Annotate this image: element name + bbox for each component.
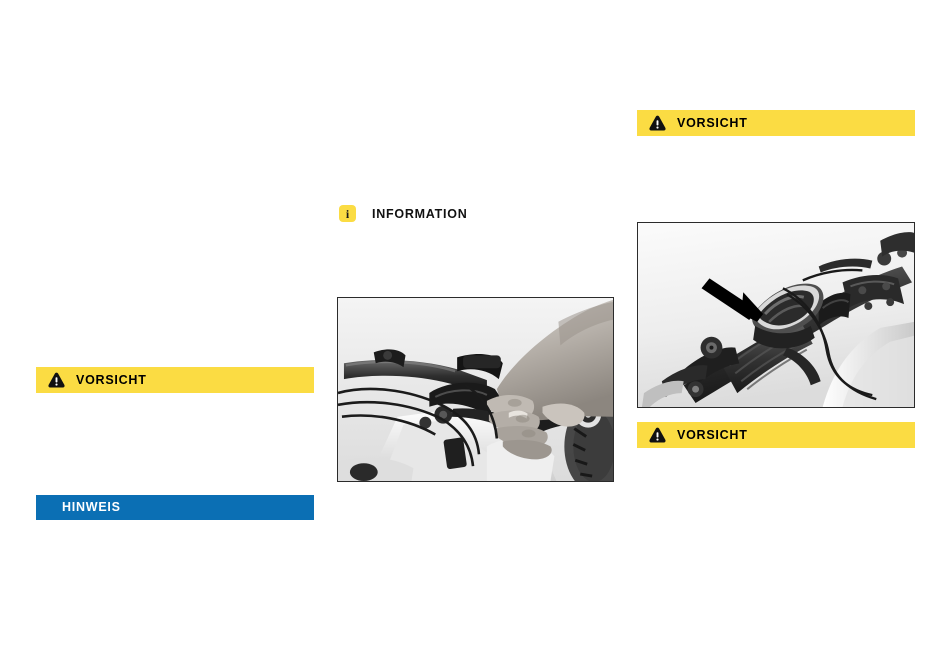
callout-notice-left: HINWEIS <box>36 495 314 520</box>
information-icon: i <box>339 205 356 222</box>
callout-caution-right-top-label: VORSICHT <box>677 117 748 130</box>
figure-handlebar-brake-lever <box>337 297 614 482</box>
manual-page: VORSICHT HINWEIS i INFORMATION <box>0 0 950 665</box>
information-icon-glyph: i <box>346 208 349 220</box>
callout-caution-right-top: VORSICHT <box>637 110 915 136</box>
warning-triangle-icon <box>649 427 666 443</box>
figure-handlebar-clamp-arrow <box>637 222 915 408</box>
warning-triangle-icon <box>48 372 65 388</box>
callout-information-center-label: INFORMATION <box>372 207 468 221</box>
callout-caution-left-label: VORSICHT <box>76 374 147 387</box>
callout-notice-left-label: HINWEIS <box>62 501 121 514</box>
callout-information-center: i INFORMATION <box>339 205 468 222</box>
callout-caution-right-bottom-label: VORSICHT <box>677 429 748 442</box>
figure-handlebar-brake-lever-image <box>338 298 613 481</box>
figure-handlebar-clamp-arrow-image <box>638 223 914 407</box>
warning-triangle-icon <box>649 115 666 131</box>
callout-caution-left: VORSICHT <box>36 367 314 393</box>
callout-caution-right-bottom: VORSICHT <box>637 422 915 448</box>
